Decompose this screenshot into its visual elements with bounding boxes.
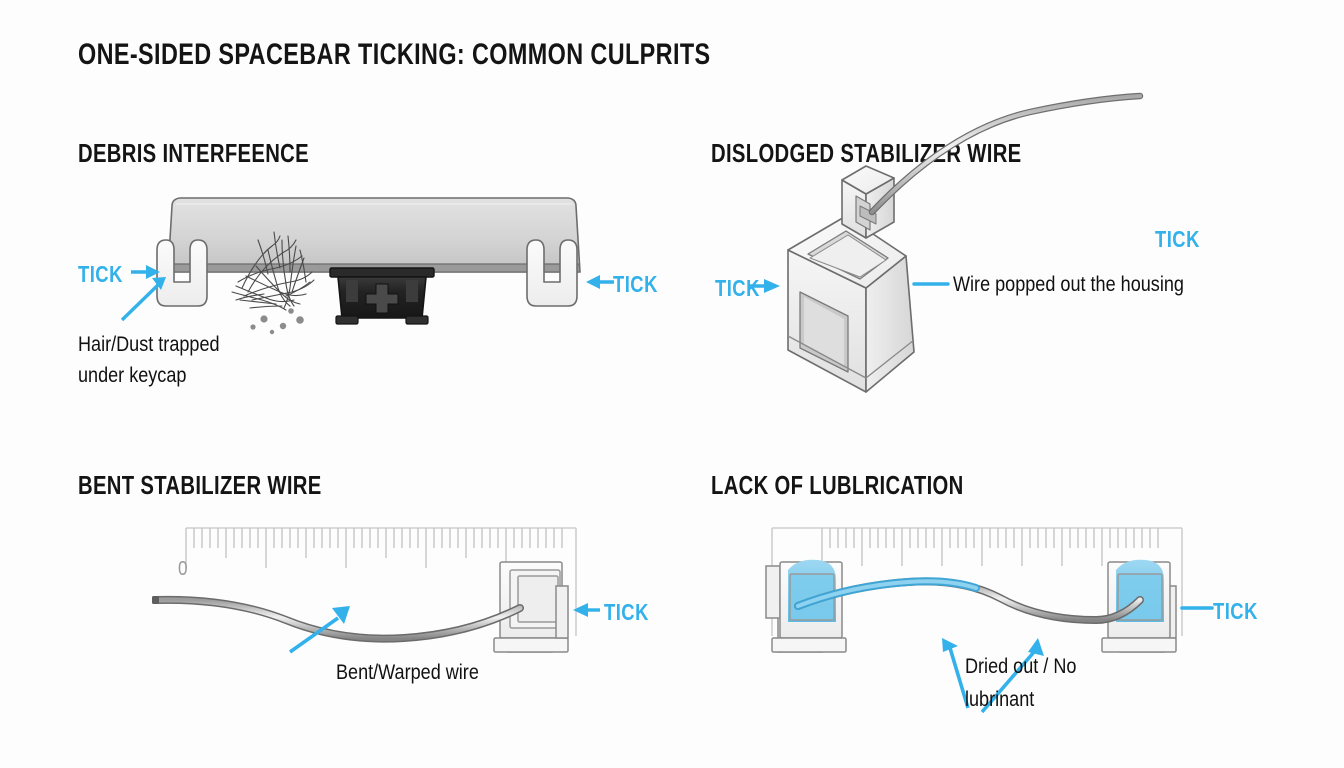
- tick-label-lubrication: TICK: [1213, 598, 1258, 625]
- tick-label-bent: TICK: [604, 599, 649, 626]
- stabilizer-wire-lube: [798, 581, 1140, 620]
- spacebar-keycap: [168, 198, 580, 272]
- center-switch: [330, 268, 434, 324]
- tick-arrow-left: [131, 265, 160, 279]
- note-debris-line2: under keycap: [78, 362, 186, 389]
- dust-specks: [250, 308, 303, 334]
- ruler-zero-bent: 0: [178, 556, 188, 583]
- dislodged-diagram: [700, 0, 1344, 420]
- isometric-stabilizer-housing: [788, 166, 914, 392]
- tick-arrow-right: [586, 275, 614, 289]
- right-stabilizer-housing-bent: [494, 562, 568, 652]
- panel-dislodged-wire: [700, 0, 1344, 420]
- bent-wire-diagram: [0, 440, 700, 768]
- panel-bent-wire: [0, 440, 700, 768]
- tick-label-dislodged-right: TICK: [1155, 226, 1200, 253]
- note-dislodged: Wire popped out the housing: [953, 271, 1184, 298]
- note-lubrication-line2: lubrinant: [965, 686, 1034, 713]
- tick-label-debris-right: TICK: [613, 271, 658, 298]
- note-bent: Bent/Warped wire: [336, 659, 479, 686]
- tick-label-dislodged-left: TICK: [715, 275, 760, 302]
- dislodged-wire: [872, 96, 1140, 212]
- infographic-canvas: ONE-SIDED SPACEBAR TICKING: COMMON CULPR…: [0, 0, 1344, 768]
- tick-arrow-bent: [573, 603, 600, 617]
- note-debris-line1: Hair/Dust trapped: [78, 331, 220, 358]
- tick-label-debris-left: TICK: [78, 261, 123, 288]
- note-lubrication-line1: Dried out / No: [965, 653, 1076, 680]
